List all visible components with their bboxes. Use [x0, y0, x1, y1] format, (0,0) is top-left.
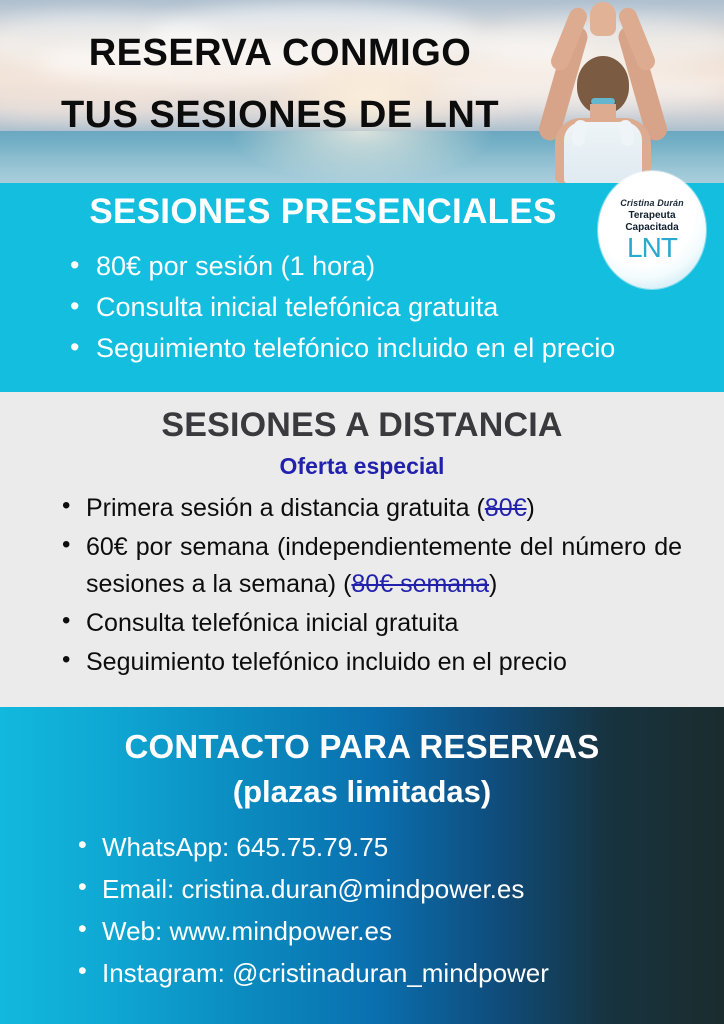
contact-item-instagram[interactable]: Instagram: @cristinaduran_mindpower: [78, 952, 724, 994]
item-text-after: ): [489, 570, 497, 598]
heading-contacto-para-reservas: CONTACTO PARA RESERVAS: [0, 729, 724, 766]
old-price-strikethrough: 80€ semana: [351, 570, 489, 598]
badge-practitioner-name: Cristina Durán: [620, 198, 683, 208]
distancia-benefits-list: Primera sesión a distancia gratuita (80€…: [0, 490, 724, 681]
section-sesiones-presenciales: Cristina Durán Terapeuta Capacitada LNT …: [0, 183, 724, 392]
badge-role-line-1: Terapeuta: [628, 210, 675, 222]
prayer-hands: [590, 2, 616, 36]
flyer-page: RESERVA CONMIGO TUS SESIONES DE LNT Cris…: [0, 0, 724, 1024]
list-item-precio-semanal: 60€ por semana (independientemente del n…: [62, 529, 682, 603]
contact-list: WhatsApp: 645.75.79.75 Email: cristina.d…: [0, 826, 724, 994]
old-price-strikethrough: 80€: [485, 494, 527, 522]
list-item: Seguimiento telefónico incluido en el pr…: [62, 644, 682, 681]
subheading-oferta-especial: Oferta especial: [0, 453, 724, 480]
badge-lnt-logo-icon: LNT: [627, 234, 677, 262]
hero-title-block: RESERVA CONMIGO TUS SESIONES DE LNT: [0, 34, 560, 134]
hero-title-line-2: TUS SESIONES DE LNT: [0, 96, 560, 134]
section-sesiones-a-distancia: SESIONES A DISTANCIA Oferta especial Pri…: [0, 392, 724, 707]
list-item-primera-sesion: Primera sesión a distancia gratuita (80€…: [62, 490, 682, 527]
lnt-certification-badge: Cristina Durán Terapeuta Capacitada LNT: [598, 171, 706, 289]
item-text-before: Primera sesión a distancia gratuita (: [86, 494, 485, 522]
contact-item-web[interactable]: Web: www.mindpower.es: [78, 910, 724, 952]
list-item: Seguimiento telefónico incluido en el pr…: [70, 328, 724, 369]
heading-sesiones-a-distancia: SESIONES A DISTANCIA: [0, 406, 724, 445]
list-item: Consulta inicial telefónica gratuita: [70, 287, 724, 328]
hero-header: RESERVA CONMIGO TUS SESIONES DE LNT: [0, 0, 724, 183]
hero-title-line-1: RESERVA CONMIGO: [0, 34, 560, 72]
contact-item-email[interactable]: Email: cristina.duran@mindpower.es: [78, 868, 724, 910]
item-text-after: ): [527, 494, 535, 522]
list-item: Consulta telefónica inicial gratuita: [62, 605, 682, 642]
subheading-plazas-limitadas: (plazas limitadas): [0, 774, 724, 810]
section-contacto: CONTACTO PARA RESERVAS (plazas limitadas…: [0, 707, 724, 1024]
contact-item-whatsapp[interactable]: WhatsApp: 645.75.79.75: [78, 826, 724, 868]
